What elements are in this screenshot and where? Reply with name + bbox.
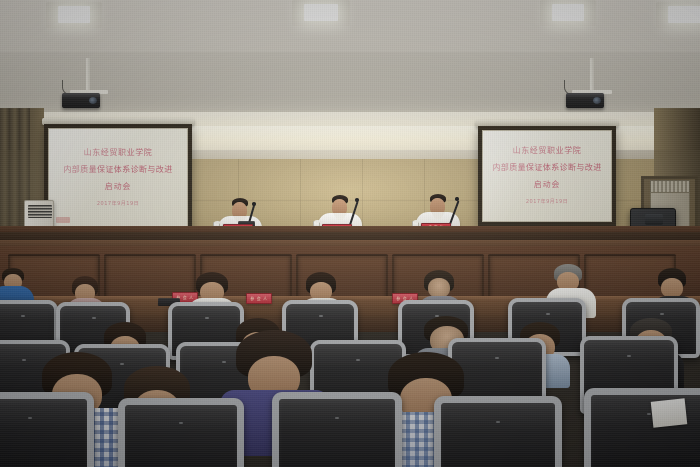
right-projection-screen: 山东经贸职业学院 内部质量保证体系诊断与改进 启动会 2017年9月19日: [478, 126, 616, 226]
ceiling-projector-right: [566, 93, 604, 108]
auditorium-chair[interactable]: [118, 398, 244, 467]
auditorium-chair[interactable]: [434, 396, 562, 467]
left-projection-screen: 山东经贸职业学院 内部质量保证体系诊断与改进 启动会 2017年9月19日: [44, 124, 192, 232]
recessed-light: [304, 4, 338, 21]
recessed-light: [668, 6, 700, 23]
microphone-head: [455, 197, 459, 201]
conference-hall-photo: 山东经贸职业学院 内部质量保证体系诊断与改进 启动会 2017年9月19日 山东…: [0, 0, 700, 467]
nameplate-text: 参 会 人: [250, 296, 268, 302]
projector-mount-pole: [590, 58, 594, 92]
projector-mount-pole: [86, 58, 90, 92]
left-screen-surface: 山东经贸职业学院 内部质量保证体系诊断与改进 启动会 2017年9月19日: [48, 128, 188, 228]
auditorium-chair[interactable]: [0, 392, 94, 467]
screen-glare: [483, 131, 611, 221]
microphone-head: [252, 202, 256, 206]
right-screen-surface: 山东经贸职业学院 内部质量保证体系诊断与改进 启动会 2017年9月19日: [482, 130, 612, 222]
ac-vent-grill: [28, 205, 52, 218]
ceiling-projector-left: [62, 93, 100, 108]
microphone-head: [355, 198, 359, 202]
head: [661, 278, 683, 298]
desk-nameplate: 参 会 人: [246, 293, 272, 304]
recessed-light: [552, 4, 584, 21]
auditorium-chair[interactable]: [272, 392, 402, 467]
recessed-light: [58, 6, 90, 23]
screen-glare: [49, 129, 187, 227]
speaker-tweeter: [645, 214, 663, 225]
document-paper: [651, 398, 688, 427]
head: [428, 278, 450, 298]
